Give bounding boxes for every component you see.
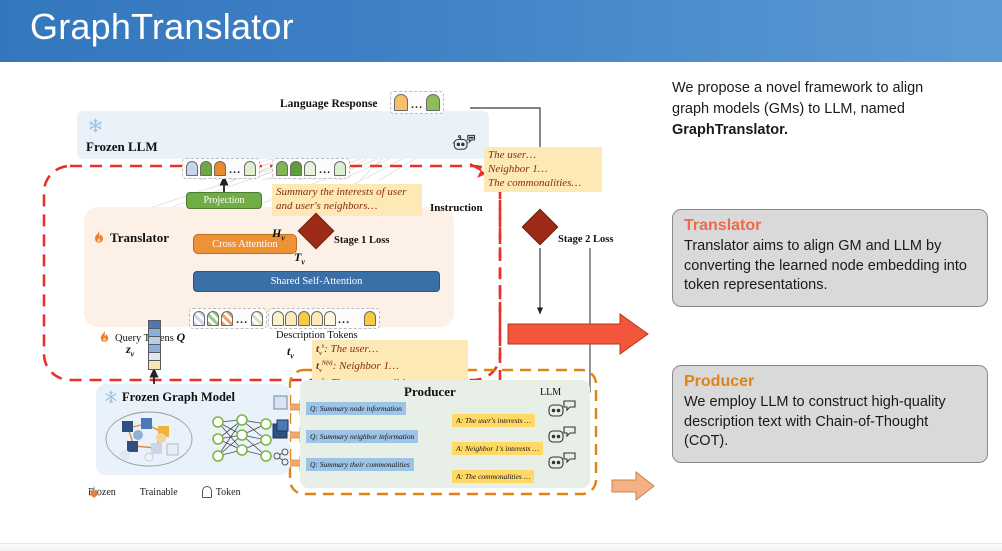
- stage1-loss-label: Stage 1 Loss: [334, 235, 389, 246]
- producer-question: Q: Summary node information: [306, 402, 406, 415]
- ellipsis-label: ...: [410, 99, 424, 111]
- token-icon: [426, 94, 440, 111]
- llm-label: LLM: [540, 387, 561, 398]
- slide-title-bar: GraphTranslator: [0, 0, 1002, 62]
- response-callout-line-2: Neighbor 1…: [488, 163, 598, 177]
- tv-sub: v: [301, 257, 305, 266]
- tv-symbol: Tv: [294, 250, 305, 266]
- query-tokens-group: ...: [189, 308, 267, 329]
- translator-pointer-arrow: [508, 314, 648, 354]
- graph-illustration: [104, 410, 194, 468]
- zv-symbol: zv: [126, 342, 134, 358]
- query-tokens-symbol: Q: [176, 330, 185, 344]
- token-icon: [186, 161, 198, 176]
- hv-symbol: Hv: [272, 226, 285, 242]
- hv-sub: v: [281, 233, 285, 242]
- desc-sub-1: v: [319, 368, 322, 374]
- producer-input-icons: [270, 394, 292, 480]
- description-callout-row: tvN(v): Neighbor 1…: [316, 359, 464, 376]
- token-icon: [214, 161, 226, 176]
- token-icon: [298, 311, 310, 326]
- framework-diagram: Frozen LLM Language Response ... Transla…: [0, 62, 672, 543]
- legend-item-token: Token: [202, 486, 241, 498]
- intro-bold-name: GraphTranslator.: [672, 122, 788, 138]
- producer-card-body: We employ LLM to construct high-quality …: [684, 393, 976, 452]
- zv-sub: v: [131, 349, 135, 358]
- instruction-callout: Summary the interests of user and user's…: [272, 184, 422, 216]
- hv-letter: H: [272, 226, 281, 240]
- token-icon: [202, 486, 212, 498]
- desc-sup-1: N(v): [322, 360, 333, 366]
- diagram-legend: Frozen Trainable Token: [88, 486, 241, 498]
- producer-card-title: Producer: [684, 373, 976, 391]
- legend-label-token: Token: [216, 487, 241, 498]
- token-icon: [276, 161, 288, 176]
- producer-answer: A: Neighbor 1's interests …: [452, 442, 543, 455]
- token-icon: [251, 311, 263, 326]
- instruction-callout-line-2: and user's neighbors…: [276, 200, 418, 214]
- token-icon: [200, 161, 212, 176]
- language-response-tokens: ...: [390, 91, 444, 114]
- ellipsis-label: ...: [318, 164, 332, 176]
- query-tokens-text: Query Tokens: [115, 333, 174, 344]
- token-icon: [394, 94, 408, 111]
- intro-paragraph: We propose a novel framework to align gr…: [672, 78, 988, 141]
- tv-input-sub: v: [290, 351, 294, 360]
- ellipsis-label: ...: [228, 164, 242, 176]
- projection-box[interactable]: Projection: [186, 192, 262, 209]
- translator-card-title: Translator: [684, 217, 976, 235]
- translator-label: Translator: [110, 230, 169, 246]
- token-icon: [207, 311, 219, 326]
- desc-text-1: : Neighbor 1…: [333, 360, 399, 372]
- frozen-llm-label: Frozen LLM: [86, 139, 158, 155]
- desc-sub-0: v: [319, 351, 322, 357]
- token-icon: [272, 311, 284, 326]
- intro-line-1: We propose a novel framework to align: [672, 80, 923, 96]
- producer-pointer-arrow: [612, 472, 654, 500]
- token-icon: [324, 311, 336, 326]
- neural-network-illustration: [204, 410, 280, 468]
- frozen-graph-model-label: Frozen Graph Model: [122, 390, 235, 405]
- producer-info-card: Producer We employ LLM to construct high…: [672, 365, 988, 463]
- translator-output-tokens: ...: [182, 158, 260, 179]
- legend-item-trainable: Trainable: [140, 487, 178, 498]
- translator-info-card: Translator Translator aims to align GM a…: [672, 209, 988, 307]
- token-icon: [285, 311, 297, 326]
- llm-robot-icons: [548, 400, 578, 478]
- legend-label-trainable: Trainable: [140, 487, 178, 498]
- producer-question: Q: Summary their commonalities: [306, 458, 414, 471]
- intro-line-2: graph models (GMs) to LLM, named: [672, 101, 905, 117]
- producer-question: Q: Summary neighbor information: [306, 430, 418, 443]
- language-response-label: Language Response: [280, 98, 377, 110]
- producer-answer: A: The user's interests …: [452, 414, 535, 427]
- token-icon: [364, 311, 376, 326]
- description-tokens-group: ...: [268, 308, 380, 329]
- response-callout: The user… Neighbor 1… The commonalities…: [484, 147, 602, 192]
- instruction-callout-line-1: Summary the interests of user: [276, 186, 418, 200]
- instruction-tokens: ...: [272, 158, 350, 179]
- token-icon: [244, 161, 256, 176]
- token-icon: [304, 161, 316, 176]
- ellipsis-label: ...: [235, 314, 249, 326]
- token-icon: [193, 311, 205, 326]
- token-icon: [221, 311, 233, 326]
- desc-text-0: : The user…: [324, 343, 378, 355]
- token-icon: [334, 161, 346, 176]
- translator-card-body: Translator aims to align GM and LLM by c…: [684, 237, 976, 296]
- token-icon: [290, 161, 302, 176]
- tv-input-symbol: tv: [287, 344, 294, 360]
- right-info-column: We propose a novel framework to align gr…: [672, 78, 988, 141]
- token-icon: [311, 311, 323, 326]
- instruction-label: Instruction: [430, 202, 483, 214]
- page-title: GraphTranslator: [30, 6, 294, 48]
- response-callout-line-3: The commonalities…: [488, 177, 598, 191]
- producer-answer: A: The commonalities …: [452, 470, 534, 483]
- shared-self-attention-box[interactable]: Shared Self-Attention: [193, 271, 440, 292]
- flame-icon: [88, 486, 100, 500]
- producer-label: Producer: [404, 384, 456, 400]
- description-callout-row: tvs: The user…: [316, 342, 464, 359]
- node-embedding-vector: [148, 320, 161, 370]
- ellipsis-label: ...: [337, 314, 351, 326]
- slide-bottom-strip: [0, 543, 1002, 551]
- response-callout-line-1: The user…: [488, 149, 598, 163]
- stage2-loss-label: Stage 2 Loss: [558, 234, 613, 245]
